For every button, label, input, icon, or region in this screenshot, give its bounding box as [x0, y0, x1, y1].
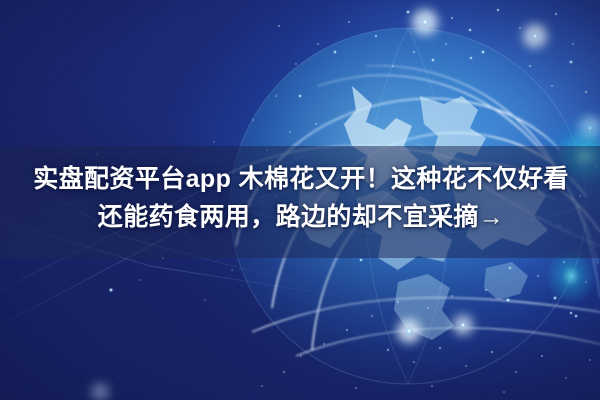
- headline-line-2: 还能药食两用，路边的却不宜采摘→: [0, 198, 600, 236]
- headline-line-1: 实盘配资平台app 木棉花又开！这种花不仅好看: [0, 160, 600, 198]
- promo-banner: 实盘配资平台app 木棉花又开！这种花不仅好看 还能药食两用，路边的却不宜采摘→: [0, 0, 600, 400]
- headline: 实盘配资平台app 木棉花又开！这种花不仅好看 还能药食两用，路边的却不宜采摘→: [0, 160, 600, 236]
